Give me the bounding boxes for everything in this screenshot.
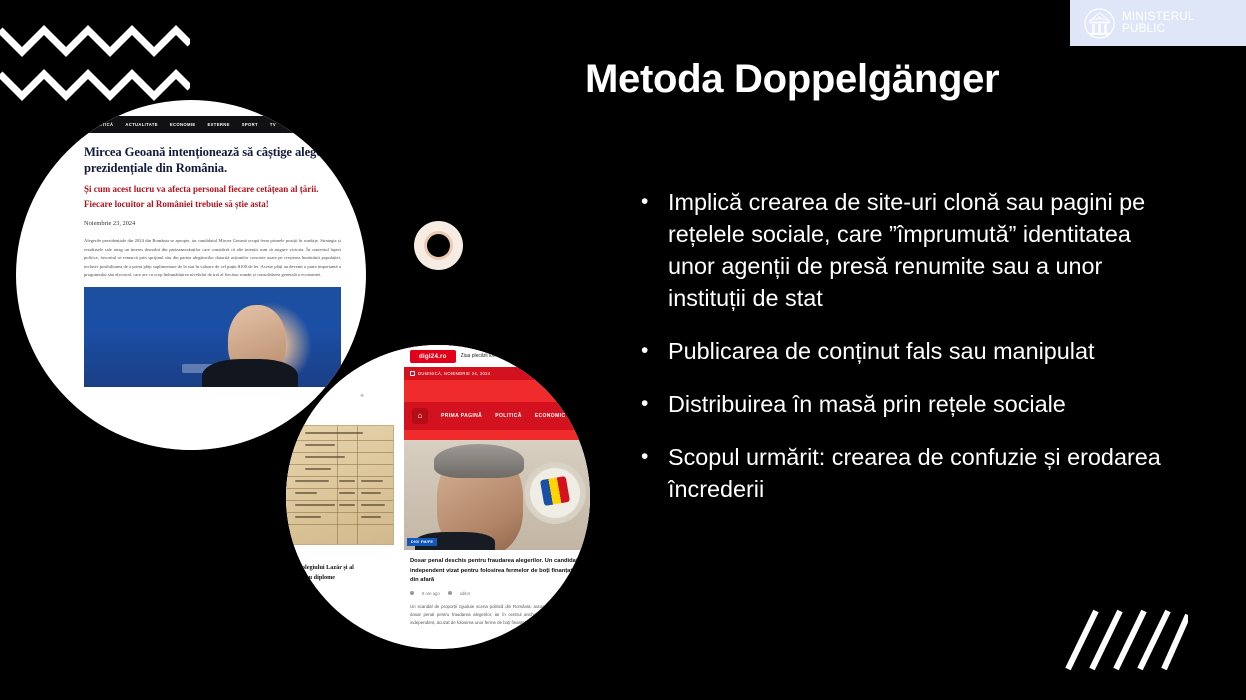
author-icon [448,591,452,595]
nav-item-actualitate: ACTUALITATE [125,122,158,127]
news-site-navbar: POLITICĂ ACTUALITATE ECONOMIE EXTERNE SP… [75,116,350,133]
bullet-marker: • [641,335,668,367]
logo-line-1: MINISTERUL [1122,11,1195,23]
digi24-logo: digi24.ro [410,350,456,363]
logo-line-2: PUBLIC [1122,23,1195,35]
doc-marks-icon: ⁜ [360,393,364,399]
ring-decoration-icon [414,221,463,270]
news-topbar: digi24.ro Ziua plecării lor. Cuuă a… [404,345,590,367]
handwritten-register-sheet [286,425,394,545]
article-date: Noiembrie 23, 2024 [84,220,341,227]
document-caption-line-1: , al Colegiului Lazăr și al [288,564,354,571]
news-article-photo: DIGI FM/FE [404,440,590,550]
zigzag-icon [0,22,190,104]
nav-item-politica: POLITICĂ [91,122,113,127]
bullet-text: Publicarea de conținut fals sau manipula… [668,335,1181,367]
news-top-headline: Ziua plecării lor. Cuuă a… [461,353,519,359]
news-navbar: ⌂ PRIMA PAGINĂ POLITICĂ ECONOMIC [404,402,590,430]
nav-item-sport: SPORT [242,122,258,127]
list-item: • Distribuirea în masă prin rețele socia… [641,388,1181,420]
bullet-text: Implică crearea de site-uri clonă sau pa… [668,186,1181,314]
news-meta-time: 9 ore ago [422,591,440,596]
nav-item-tv: TV [270,122,276,127]
nav-item-politica: POLITICĂ [495,413,522,419]
page-title: Metoda Doppelgänger [585,57,1185,102]
news-article-lead: Un scandal de proporții zguduie scena po… [404,596,590,627]
news-article-title: Dosar penal deschis pentru fraudarea ale… [404,550,590,586]
article-paragraph: Alegerile prezidențiale din 2024 din Rom… [84,237,341,280]
diagonal-stripes-icon [1062,607,1188,671]
slide-canvas: MINISTERUL PUBLIC Metoda Doppelgänger • … [0,0,1246,700]
ministry-logo-text: MINISTERUL PUBLIC [1122,11,1195,36]
digi24-news-panel: digi24.ro Ziua plecării lor. Cuuă a… DUM… [404,345,590,649]
list-item: • Scopul urmărit: crearea de confuzie și… [641,441,1181,505]
bullet-marker: • [641,186,668,218]
bullet-list: • Implică crearea de site-uri clonă sau … [641,186,1181,526]
home-icon: ⌂ [412,408,428,424]
article-subheadline: Și cum acest lucru va afecta personal fi… [84,182,341,211]
news-date-bar: DUMINICĂ, NOIEMBRIE 24, 2024 [404,367,590,380]
bullet-marker: • [641,388,668,420]
news-date-text: DUMINICĂ, NOIEMBRIE 24, 2024 [418,371,490,376]
bullet-text: Scopul urmărit: crearea de confuzie și e… [668,441,1181,505]
news-article-meta: 9 ore ago editor [404,586,590,596]
nav-item-prima-pagina: PRIMA PAGINĂ [441,413,482,419]
document-caption: , al Colegiului Lazăr și al i, care au d… [288,563,406,583]
scanned-document-panel: ⁜ [286,345,404,649]
bullet-text: Distribuirea în masă prin rețele sociale [668,388,1181,420]
list-item: • Publicarea de conținut fals sau manipu… [641,335,1181,367]
image-circle-digi24: ⁜ [286,345,590,649]
nav-item-economie: ECONOMIE [170,122,196,127]
ministry-logo-plate: MINISTERUL PUBLIC [1070,0,1246,46]
news-meta-author: editor [460,591,470,596]
clock-icon [410,591,414,595]
list-item: • Implică crearea de site-uri clonă sau … [641,186,1181,314]
nav-item-externe: EXTERNE [208,122,230,127]
nav-item-economic: ECONOMIC [535,413,566,419]
article-headline: Mircea Geoană intenționează să câștige a… [84,145,341,176]
bullet-marker: • [641,441,668,473]
document-caption-line-2: i, care au diplome [288,574,335,581]
calendar-icon [410,371,415,376]
photo-badge: DIGI FM/FE [407,538,437,546]
classical-temple-emblem-icon [1084,8,1115,39]
